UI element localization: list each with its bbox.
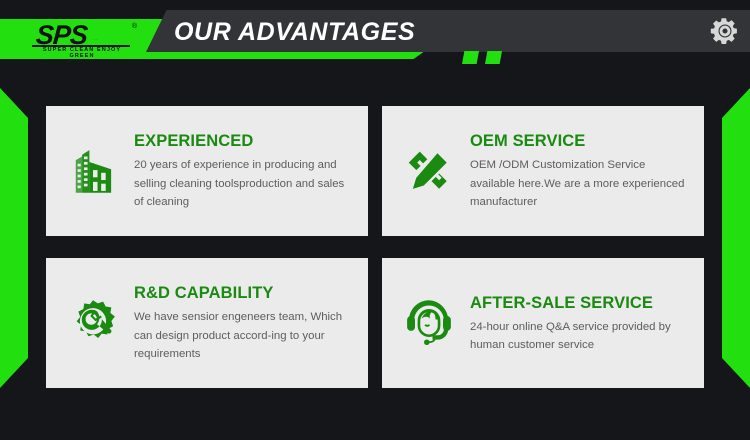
advantage-card-experienced[interactable]: EXPERIENCED 20 years of experience in pr… — [46, 106, 368, 236]
card-description: 20 years of experience in producing and … — [134, 156, 354, 211]
card-body: AFTER-SALE SERVICE 24-hour online Q&A se… — [470, 292, 690, 355]
registered-mark-icon: ® — [132, 23, 137, 30]
advantages-grid: EXPERIENCED 20 years of experience in pr… — [46, 106, 704, 388]
logo-dots-right: ·· — [94, 37, 99, 42]
card-body: EXPERIENCED 20 years of experience in pr… — [134, 130, 354, 211]
card-title: OEM SERVICE — [470, 132, 690, 151]
page-title: OUR ADVANTAGES — [174, 18, 415, 47]
gear-icon[interactable] — [708, 14, 742, 48]
right-accent-shape — [722, 88, 750, 388]
card-title: R&D CAPABILITY — [134, 284, 354, 303]
card-title: EXPERIENCED — [134, 132, 354, 151]
advantage-card-oem-service[interactable]: OEM SERVICE OEM /ODM Customization Servi… — [382, 106, 704, 236]
gear-wrench-icon — [62, 292, 124, 354]
headset-support-icon — [398, 292, 460, 354]
advantage-card-after-sale-service[interactable]: AFTER-SALE SERVICE 24-hour online Q&A se… — [382, 258, 704, 388]
page-header: SPS ® ·· ·· SUPER CLEAN ENJOY GREEN OUR … — [0, 0, 750, 75]
pencil-ruler-icon — [398, 140, 460, 202]
advantage-card-rd-capability[interactable]: R&D CAPABILITY We have sensior engeneers… — [46, 258, 368, 388]
sps-logo: SPS ® ·· ·· SUPER CLEAN ENJOY GREEN — [30, 22, 135, 56]
card-description: OEM /ODM Customization Service available… — [470, 156, 690, 211]
card-body: OEM SERVICE OEM /ODM Customization Servi… — [470, 130, 690, 211]
logo-dots-left: ·· — [42, 37, 47, 42]
card-description: We have sensior engeneers team, Which ca… — [134, 308, 354, 363]
card-description: 24-hour online Q&A service provided by h… — [470, 318, 690, 355]
card-body: R&D CAPABILITY We have sensior engeneers… — [134, 282, 354, 363]
left-accent-shape — [0, 88, 28, 388]
card-title: AFTER-SALE SERVICE — [470, 294, 690, 313]
header-stripe-2 — [485, 51, 502, 64]
building-icon — [62, 140, 124, 202]
logo-tagline: SUPER CLEAN ENJOY GREEN — [32, 47, 132, 59]
header-stripe-1 — [462, 51, 479, 64]
